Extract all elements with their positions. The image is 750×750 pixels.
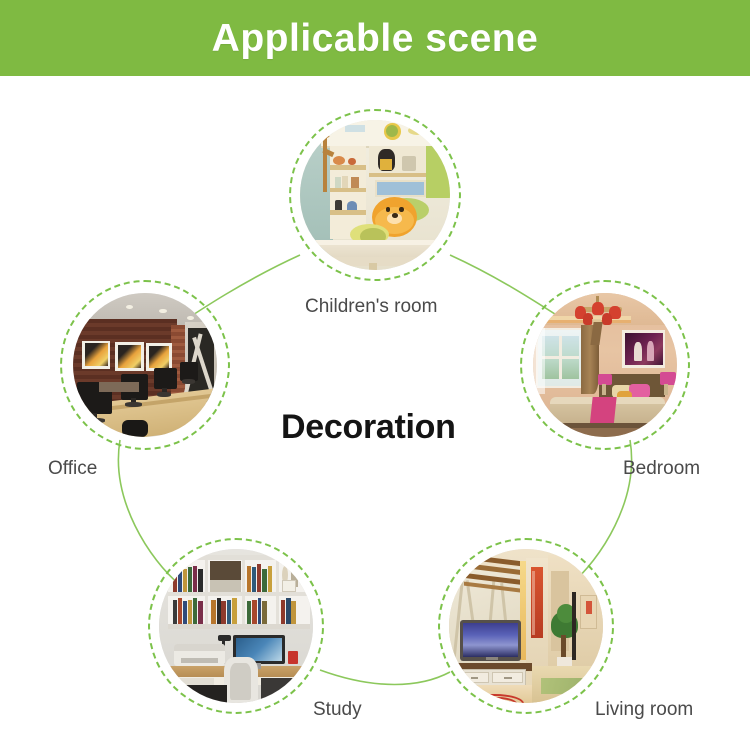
children-room-label: Children's room [305, 297, 437, 316]
children-room-scene [300, 120, 450, 270]
office-scene [73, 293, 217, 437]
study-label: Study [313, 700, 362, 719]
center-title: Decoration [281, 410, 456, 444]
children-room-photo[interactable] [300, 120, 450, 270]
living-room-label: Living room [595, 700, 693, 719]
study-photo[interactable] [159, 549, 313, 703]
bedroom-scene [533, 293, 677, 437]
bedroom-label: Bedroom [623, 459, 700, 478]
office-photo[interactable] [73, 293, 217, 437]
office-label: Office [48, 459, 97, 478]
living-room-photo[interactable] [449, 549, 603, 703]
bedroom-photo[interactable] [533, 293, 677, 437]
living-room-scene [449, 549, 603, 703]
applicable-scene-infographic: Applicable scene [0, 0, 750, 750]
study-scene [159, 549, 313, 703]
